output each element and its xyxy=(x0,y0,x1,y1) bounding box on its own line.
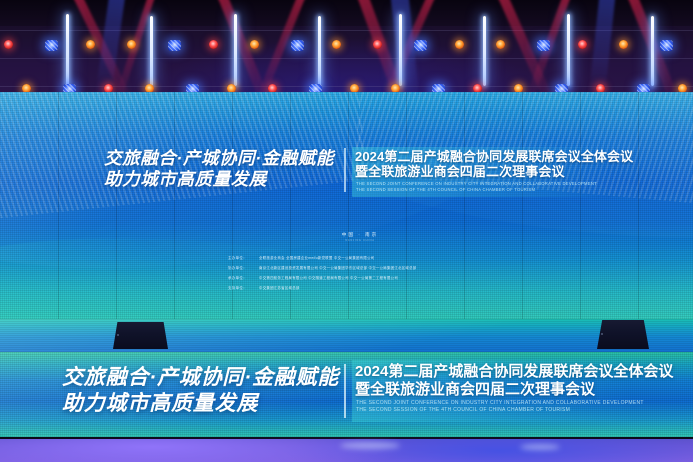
conference-title-en-line2: THE SECOND SESSION OF THE 4TH COUNCIL OF… xyxy=(356,187,618,193)
blue-wash-lamp xyxy=(414,40,427,51)
led-tube xyxy=(651,16,654,86)
blue-wash-lamp xyxy=(291,40,304,51)
blue-wash-lamp xyxy=(168,40,181,51)
lower-headline-divider xyxy=(344,364,346,418)
led-tube xyxy=(318,16,321,86)
ceiling-shadow xyxy=(0,0,693,26)
lower-title-cn-line1: 2024第二届产城融合协同发展联席会议全体会议 xyxy=(355,363,655,380)
blue-wash-lamp xyxy=(432,84,445,92)
blue-wash-lamp xyxy=(186,84,199,92)
sponsor-value: 南京江北新区建设投资发展有限公司 中交一公局集团华东区域总部 中交一公局集团江北… xyxy=(259,265,417,270)
ceiling-lighting-rig xyxy=(0,0,693,92)
orange-par-lamp xyxy=(619,40,628,49)
red-par-lamp xyxy=(473,84,482,92)
orange-par-lamp xyxy=(391,84,400,92)
red-par-lamp xyxy=(209,40,218,49)
blue-wash-lamp xyxy=(660,40,673,51)
led-tube xyxy=(567,14,570,86)
led-tube xyxy=(150,16,153,86)
orange-par-lamp xyxy=(22,84,31,92)
orange-par-lamp xyxy=(455,40,464,49)
orange-par-lamp xyxy=(496,40,505,49)
led-panel-seam xyxy=(174,92,175,319)
red-par-lamp xyxy=(268,84,277,92)
main-headline-line2: 助力城市高质量发展 xyxy=(104,169,340,190)
led-panel-seam xyxy=(116,92,117,319)
orange-par-lamp xyxy=(86,40,95,49)
sponsor-value: 全联旅游业商会 全国房建企业među新党联盟 中交一公局集团有限公司 xyxy=(259,255,375,260)
venue-city-cn: 中国 · 南京 xyxy=(330,232,390,238)
blue-wash-lamp xyxy=(45,40,58,51)
truss-bar xyxy=(0,30,693,31)
blue-wash-lamp xyxy=(309,84,322,92)
blue-wash-lamp xyxy=(637,84,650,92)
led-panel-seam xyxy=(58,92,59,319)
sponsor-label: 主办单位： xyxy=(228,255,254,260)
orange-par-lamp xyxy=(514,84,523,92)
blue-wash-lamp xyxy=(555,84,568,92)
sponsor-label: 承办单位： xyxy=(228,275,254,280)
headline-divider xyxy=(344,148,346,192)
orange-par-lamp xyxy=(250,40,259,49)
led-panel-seam xyxy=(638,92,639,319)
orange-par-lamp xyxy=(145,84,154,92)
led-tube xyxy=(483,16,486,86)
venue-city-en: NANJING CHINA xyxy=(330,239,390,242)
sponsor-row: 承办单位：中交第四航务工程局有限公司 中交隧道工程局有限公司 中交一公局第二工程… xyxy=(228,275,528,285)
lower-headline: 交旅融合·产城协同·金融赋能 助力城市高质量发展 xyxy=(62,365,352,417)
led-panel-seam xyxy=(580,92,581,319)
sponsor-row: 主办单位：全联旅游业商会 全国房建企业među新党联盟 中交一公局集团有限公司 xyxy=(228,255,528,265)
led-tube xyxy=(399,14,402,86)
floor-reflection xyxy=(520,444,560,450)
red-par-lamp xyxy=(4,40,13,49)
led-tube xyxy=(66,14,69,86)
stage-monitor-right xyxy=(597,320,649,349)
stage-scene: 交旅融合·产城协同·金融赋能 助力城市高质量发展 2024第二届产城融合协同发展… xyxy=(0,0,693,462)
main-headline: 交旅融合·产城协同·金融赋能 助力城市高质量发展 xyxy=(104,148,340,190)
sponsor-row: 协办单位：南京江北新区建设投资发展有限公司 中交一公局集团华东区域总部 中交一公… xyxy=(228,265,528,275)
truss-bar xyxy=(0,58,693,59)
red-par-lamp xyxy=(373,40,382,49)
lower-headline-line1: 交旅融合·产城协同·金融赋能 xyxy=(62,365,352,391)
led-tube xyxy=(234,14,237,86)
floor-reflection xyxy=(340,442,400,449)
stage-front-strip xyxy=(0,319,693,352)
floor-edge-line xyxy=(0,437,693,439)
lower-title-cn-line2: 暨全联旅游业商会四届二次理事会议 xyxy=(355,381,655,398)
conference-title-cn-line2: 暨全联旅游业商会四届二次理事会议 xyxy=(355,165,617,180)
sponsor-list: 主办单位：全联旅游业商会 全国房建企业među新党联盟 中交一公局集团有限公司协… xyxy=(228,255,528,295)
sponsor-label: 支持单位： xyxy=(228,285,254,290)
sponsor-label: 协办单位： xyxy=(228,265,254,270)
lower-title-en-line2: THE SECOND SESSION OF THE 4TH COUNCIL OF… xyxy=(356,407,656,414)
red-par-lamp xyxy=(596,84,605,92)
blue-wash-lamp xyxy=(537,40,550,51)
blue-wash-lamp xyxy=(63,84,76,92)
stage-monitor-left xyxy=(113,322,168,349)
lower-headline-line2: 助力城市高质量发展 xyxy=(62,391,352,417)
red-par-lamp xyxy=(578,40,587,49)
stage-front-texture xyxy=(0,319,693,352)
conference-title-cn-line1: 2024第二届产城融合协同发展联席会议全体会议 xyxy=(355,150,617,165)
main-headline-line1: 交旅融合·产城协同·金融赋能 xyxy=(104,148,340,169)
orange-par-lamp xyxy=(332,40,341,49)
sponsor-value: 中交第四航务工程局有限公司 中交隧道工程局有限公司 中交一公局第二工程有限公司 xyxy=(259,275,398,280)
orange-par-lamp xyxy=(350,84,359,92)
orange-par-lamp xyxy=(127,40,136,49)
red-par-lamp xyxy=(104,84,113,92)
orange-par-lamp xyxy=(678,84,687,92)
lower-title-en-line1: THE SECOND JOINT CONFERENCE ON INDUSTRY … xyxy=(356,400,656,407)
sponsor-value: 中交集团江苏省区域总部 xyxy=(259,285,300,290)
orange-par-lamp xyxy=(227,84,236,92)
stage-floor xyxy=(0,437,693,462)
sponsor-row: 支持单位：中交集团江苏省区域总部 xyxy=(228,285,528,295)
